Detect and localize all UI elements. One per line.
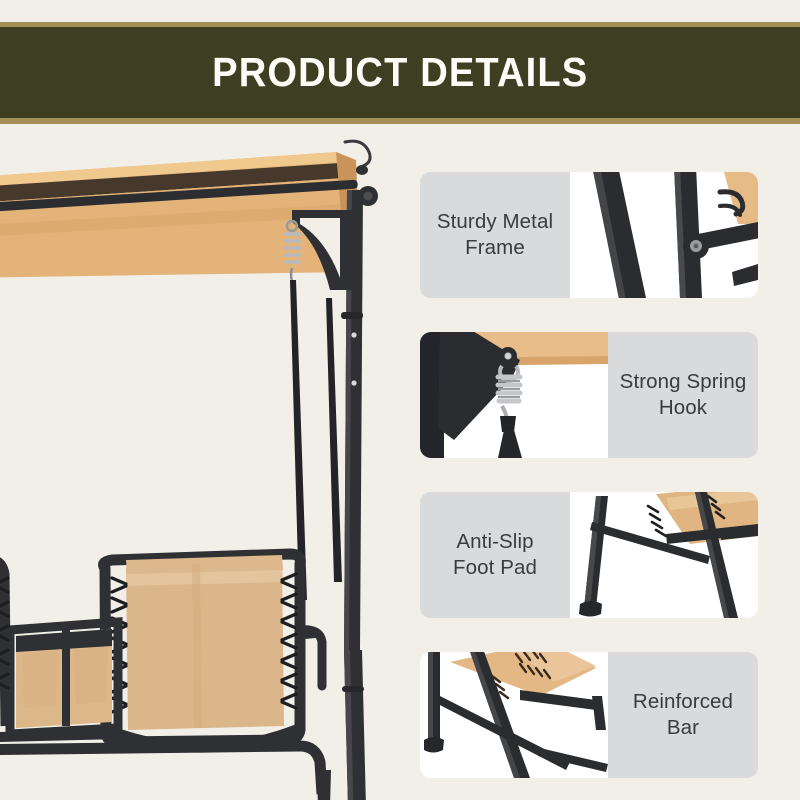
- product-details-page: PRODUCT DETAILS: [0, 0, 800, 800]
- feature-card-strong-spring-hook[interactable]: Strong Spring Hook: [420, 332, 758, 458]
- feature-label-line2: Bar: [667, 716, 699, 739]
- patio-swing-illustration: [0, 130, 412, 800]
- page-header-banner: PRODUCT DETAILS: [0, 22, 800, 124]
- spring-hook-graphic: [420, 332, 608, 458]
- spring-hook-closeup-photo: [420, 332, 608, 458]
- feature-label-line2: Frame: [465, 236, 525, 259]
- feature-label-line1: Anti-Slip: [456, 530, 533, 553]
- feature-label-anti-slip-foot-pad: Anti-Slip Foot Pad: [420, 492, 570, 618]
- page-title: PRODUCT DETAILS: [212, 52, 588, 93]
- feature-label-line1: Strong Spring: [620, 370, 747, 393]
- feature-label-line2: Hook: [659, 396, 707, 419]
- hero-product-image: [0, 130, 412, 800]
- feature-cards-list: Sturdy Metal Frame: [420, 172, 758, 778]
- feature-card-sturdy-metal-frame[interactable]: Sturdy Metal Frame: [420, 172, 758, 298]
- metal-frame-closeup-photo: [570, 172, 758, 298]
- feature-card-reinforced-bar[interactable]: Reinforced Bar: [420, 652, 758, 778]
- reinforced-bar-closeup-photo: [420, 652, 608, 778]
- feature-label-line2: Foot Pad: [453, 556, 537, 579]
- feature-card-anti-slip-foot-pad[interactable]: Anti-Slip Foot Pad: [420, 492, 758, 618]
- foot-pad-closeup-photo: [570, 492, 758, 618]
- feature-label-line1: Reinforced: [633, 690, 733, 713]
- feature-label-line1: Sturdy Metal: [437, 210, 553, 233]
- foot-pad-graphic: [570, 492, 758, 618]
- feature-label-reinforced-bar: Reinforced Bar: [608, 652, 758, 778]
- feature-label-strong-spring-hook: Strong Spring Hook: [608, 332, 758, 458]
- feature-label-sturdy-metal-frame: Sturdy Metal Frame: [420, 172, 570, 298]
- reinforced-bar-graphic: [420, 652, 608, 778]
- metal-frame-graphic: [570, 172, 758, 298]
